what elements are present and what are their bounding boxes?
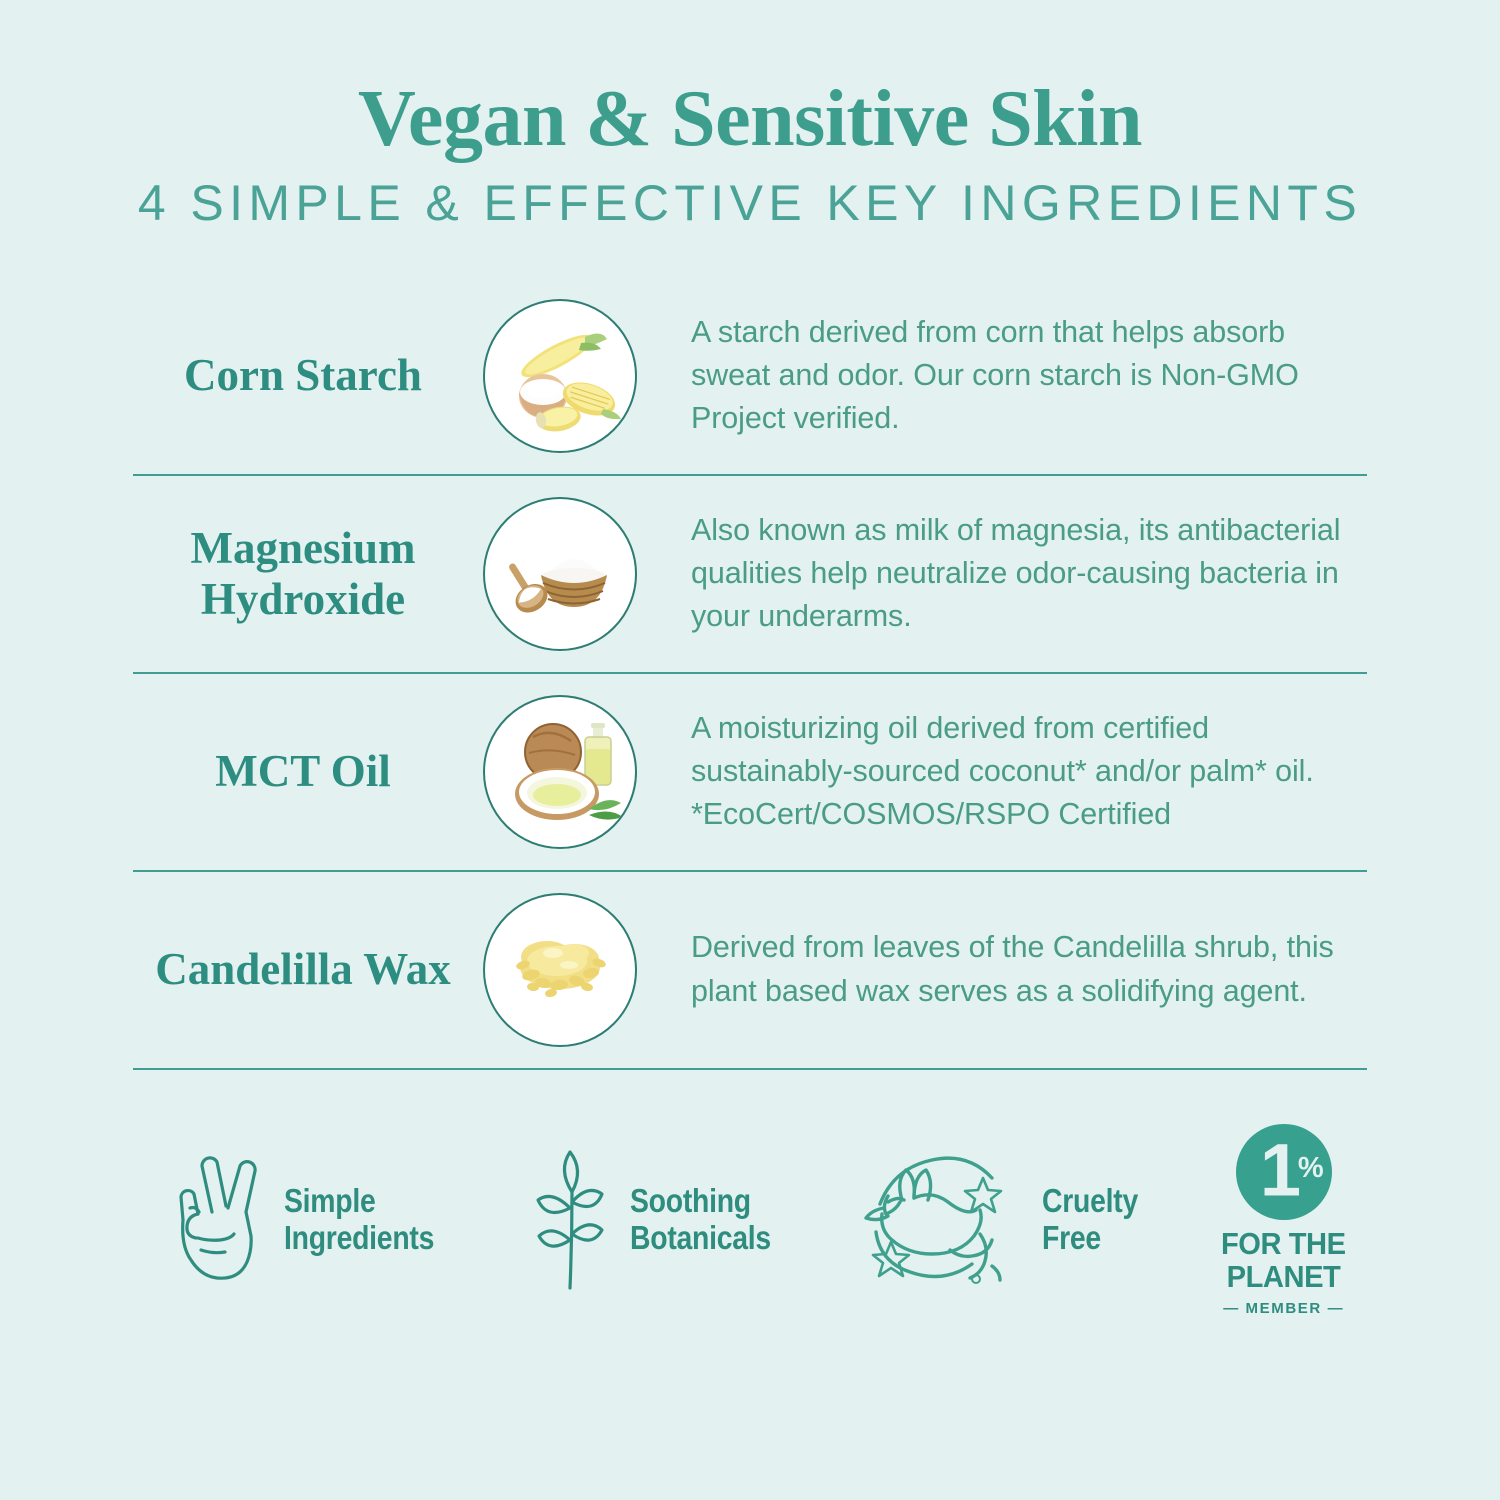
planet-percent-sign: % — [1298, 1154, 1324, 1183]
ingredient-name: Candelilla Wax — [133, 944, 483, 994]
coconut-halves-with-oil-bottle-icon — [485, 697, 635, 847]
mct-oil-image — [483, 695, 637, 849]
ingredient-description: A moisturizing oil derived from certifie… — [691, 707, 1367, 837]
ingredient-list: Corn Starch — [0, 278, 1500, 1070]
badge-soothing-botanicals: Soothing Botanicals — [522, 1146, 794, 1294]
page-title: Vegan & Sensitive Skin — [0, 78, 1500, 161]
infographic-page: Vegan & Sensitive Skin 4 SIMPLE & EFFECT… — [0, 0, 1500, 1500]
ingredient-row: Corn Starch — [133, 278, 1367, 474]
corn-starch-image — [483, 299, 637, 453]
ingredient-description: Derived from leaves of the Candelilla sh… — [691, 926, 1367, 1013]
corn-cobs-and-bowl-of-starch-icon — [485, 301, 635, 451]
badge-label: Soothing Botanicals — [630, 1183, 771, 1257]
peace-hand-icon — [168, 1150, 272, 1290]
row-divider — [133, 1068, 1367, 1070]
wooden-bowl-of-white-powder-with-spoon-icon — [485, 499, 635, 649]
planet-number: 1 — [1260, 1133, 1301, 1207]
leaf-branch-icon — [522, 1146, 618, 1294]
planet-line-1: FOR THE — [1221, 1228, 1346, 1259]
badge-label: Cruelty Free — [1042, 1183, 1138, 1257]
ingredient-row: Magnesium Hydroxide — [133, 476, 1367, 672]
magnesium-hydroxide-image — [483, 497, 637, 651]
trust-badge-row: Simple Ingredients Soothing Botanicals — [0, 1124, 1500, 1317]
badge-simple-ingredients: Simple Ingredients — [168, 1150, 459, 1290]
planet-line-2: PLANET — [1227, 1261, 1341, 1292]
badge-one-percent-for-the-planet: 1 % FOR THE PLANET — MEMBER — — [1217, 1124, 1350, 1317]
header: Vegan & Sensitive Skin 4 SIMPLE & EFFECT… — [0, 0, 1500, 230]
yellow-wax-pastilles-icon — [485, 895, 635, 1045]
leaping-bunny-icon — [858, 1146, 1030, 1294]
ingredient-description: A starch derived from corn that helps ab… — [691, 311, 1367, 441]
planet-member-label: — MEMBER — — [1223, 1300, 1344, 1317]
page-subtitle: 4 SIMPLE & EFFECTIVE KEY INGREDIENTS — [0, 177, 1500, 230]
ingredient-name: Magnesium Hydroxide — [133, 523, 483, 624]
badge-cruelty-free: Cruelty Free — [858, 1146, 1154, 1294]
ingredient-row: MCT Oil — [133, 674, 1367, 870]
ingredient-description: Also known as milk of magnesia, its anti… — [691, 509, 1367, 639]
one-percent-circle-icon: 1 % — [1236, 1124, 1332, 1220]
candelilla-wax-image — [483, 893, 637, 1047]
ingredient-name: MCT Oil — [133, 746, 483, 796]
badge-label: Simple Ingredients — [284, 1183, 434, 1257]
ingredient-name: Corn Starch — [133, 350, 483, 400]
ingredient-row: Candelilla Wax — [133, 872, 1367, 1068]
